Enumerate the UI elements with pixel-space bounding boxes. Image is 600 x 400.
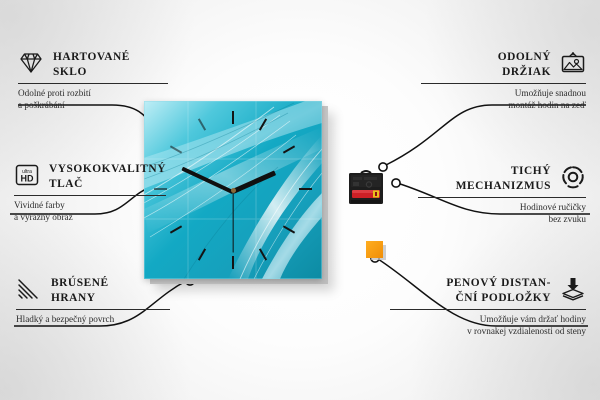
- feature-polished-edges: BRÚSENÉ HRANY Hladký a bezpečný povrch: [16, 276, 170, 326]
- feature-title: ODOLNÝ DRŽIAK: [498, 50, 551, 79]
- infographic-canvas: HARTOVANÉ SKLO Odolné proti rozbití a po…: [0, 0, 600, 400]
- feature-title: PENOVÝ DISTAN- ČNÍ PODLOŽKY: [446, 276, 551, 305]
- brushed-edges-icon: [16, 276, 42, 302]
- glass-clock-product-photo: [144, 101, 322, 279]
- feature-tempered-glass: HARTOVANÉ SKLO Odolné proti rozbití a po…: [18, 50, 168, 111]
- feature-divider: [421, 83, 586, 84]
- ultra-hd-icon: ultra HD: [14, 162, 40, 188]
- feature-divider: [16, 309, 170, 310]
- tick-mark: [299, 188, 312, 190]
- feature-durable-hanger: ODOLNÝ DRŽIAK Umožňuje snadnou montáž ho…: [421, 50, 586, 111]
- clock-mechanism-photo: [347, 168, 385, 208]
- feature-description: Hladký a bezpečný povrch: [16, 314, 170, 326]
- diamond-icon: [18, 50, 44, 76]
- feature-divider: [390, 309, 586, 310]
- feature-description: Odolné proti rozbití a poškrábání: [18, 88, 168, 111]
- feature-high-quality-print: ultra HD VYSOKOKVALITNÝ TLAČ Vividné far…: [14, 162, 166, 223]
- second-hand: [232, 191, 233, 253]
- picture-frame-hanger-icon: [560, 50, 586, 76]
- ultra-hd-big-label: HD: [21, 174, 34, 184]
- tick-mark: [232, 256, 234, 269]
- tick-mark: [232, 111, 234, 124]
- feature-divider: [14, 195, 166, 196]
- clock-pivot: [231, 188, 236, 193]
- layers-arrow-icon: [560, 276, 586, 302]
- feature-silent-mechanism: TICHÝ MECHANIZMUS Hodinové ručičky bez z…: [418, 164, 586, 225]
- feature-description: Umožňuje snadnou montáž hodin na zeď: [421, 88, 586, 111]
- feature-foam-spacers: PENOVÝ DISTAN- ČNÍ PODLOŽKY Umožňuje vám…: [390, 276, 586, 337]
- feature-title: TICHÝ MECHANIZMUS: [456, 164, 551, 193]
- marker-mechanism: [392, 179, 400, 187]
- feature-description: Vividné farby a výrazný obraz: [14, 200, 166, 223]
- wire-hanger: [386, 105, 586, 165]
- feature-title: VYSOKOKVALITNÝ TLAČ: [49, 162, 166, 191]
- feature-divider: [418, 197, 586, 198]
- feature-description: Umožňuje vám držať hodiny v rovnakej vzd…: [390, 314, 586, 337]
- feature-divider: [18, 83, 168, 84]
- gear-icon: [560, 164, 586, 190]
- feature-title: HARTOVANÉ SKLO: [53, 50, 130, 79]
- foam-spacer-pad-photo: [366, 241, 383, 258]
- feature-description: Hodinové ručičky bez zvuku: [418, 202, 586, 225]
- feature-title: BRÚSENÉ HRANY: [51, 276, 109, 305]
